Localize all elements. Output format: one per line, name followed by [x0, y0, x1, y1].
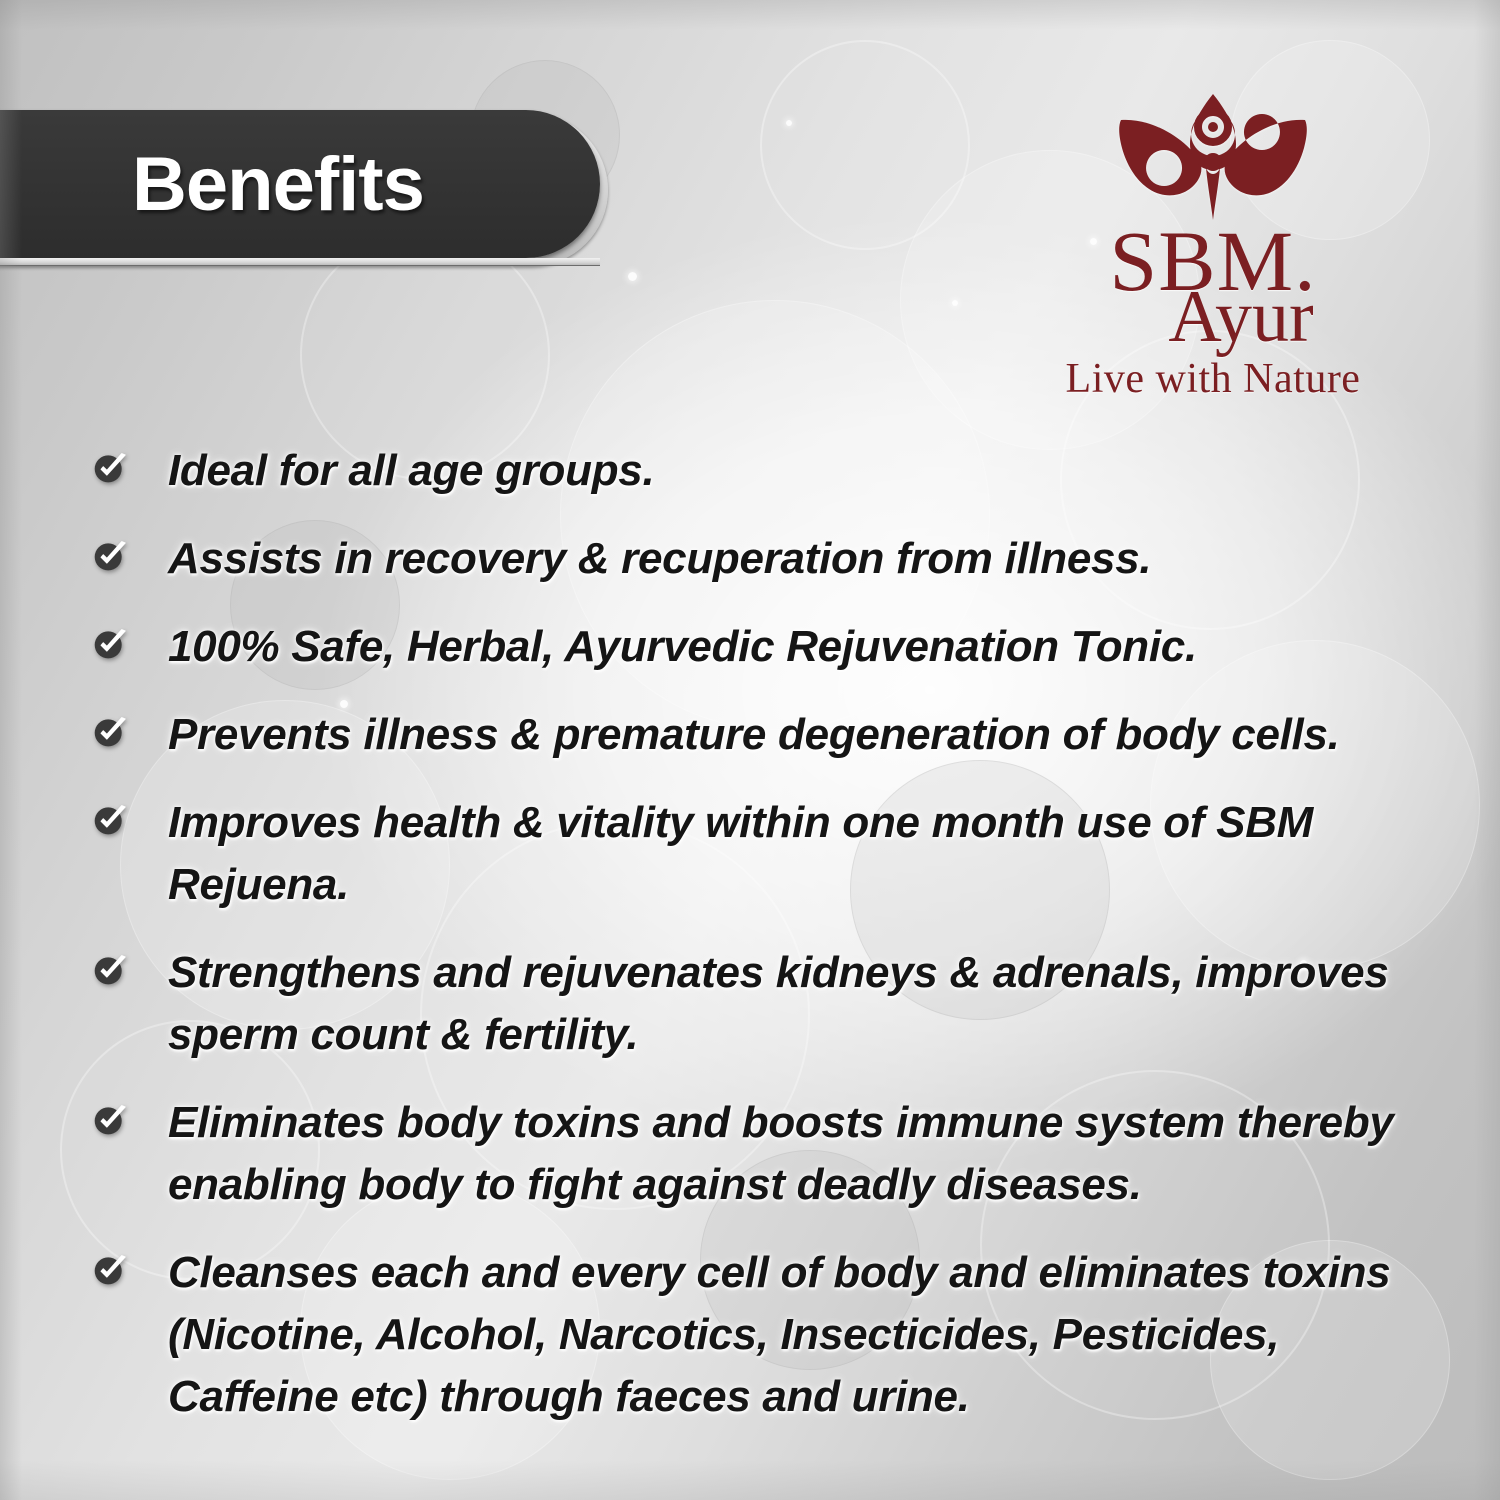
- banner-bottom-strip: [0, 258, 600, 266]
- brand-name-secondary: Ayur: [1168, 276, 1313, 358]
- benefit-text: Ideal for all age groups.: [168, 440, 1444, 502]
- lotus-ornament-icon: [1118, 92, 1308, 222]
- check-circle-icon: [92, 802, 128, 838]
- brand-tagline: Live with Nature: [1038, 356, 1388, 402]
- check-circle-icon: [92, 450, 128, 486]
- check-circle-icon: [92, 626, 128, 662]
- benefit-item: Ideal for all age groups.: [92, 440, 1444, 502]
- benefit-text: Eliminates body toxins and boosts immune…: [168, 1092, 1444, 1216]
- benefit-item: 100% Safe, Herbal, Ayurvedic Rejuvenatio…: [92, 616, 1444, 678]
- benefit-item: Prevents illness & premature degeneratio…: [92, 704, 1444, 766]
- check-circle-icon: [92, 538, 128, 574]
- benefit-text: Cleanses each and every cell of body and…: [168, 1242, 1444, 1428]
- check-circle-icon: [92, 714, 128, 750]
- benefit-item: Assists in recovery & recuperation from …: [92, 528, 1444, 590]
- banner-pill: Benefits: [0, 110, 600, 258]
- benefit-text: Strengthens and rejuvenates kidneys & ad…: [168, 942, 1444, 1066]
- benefit-text: Prevents illness & premature degeneratio…: [168, 704, 1444, 766]
- benefit-item: Eliminates body toxins and boosts immune…: [92, 1092, 1444, 1216]
- header-banner: Benefits: [0, 110, 610, 262]
- brand-name-secondary-row: Ayur: [1038, 280, 1388, 352]
- poster-canvas: Benefits SBM.: [0, 0, 1500, 1500]
- check-circle-icon: [92, 952, 128, 988]
- benefits-list: Ideal for all age groups. Assists in rec…: [92, 440, 1444, 1454]
- benefit-item: Improves health & vitality within one mo…: [92, 792, 1444, 916]
- benefit-text: 100% Safe, Herbal, Ayurvedic Rejuvenatio…: [168, 616, 1444, 678]
- benefit-item: Cleanses each and every cell of body and…: [92, 1242, 1444, 1428]
- check-circle-icon: [92, 1102, 128, 1138]
- benefit-text: Assists in recovery & recuperation from …: [168, 528, 1444, 590]
- benefit-text: Improves health & vitality within one mo…: [168, 792, 1444, 916]
- brand-logo: SBM. Ayur Live with Nature: [1038, 92, 1388, 402]
- page-title: Benefits: [132, 141, 424, 228]
- check-circle-icon: [92, 1252, 128, 1288]
- benefit-item: Strengthens and rejuvenates kidneys & ad…: [92, 942, 1444, 1066]
